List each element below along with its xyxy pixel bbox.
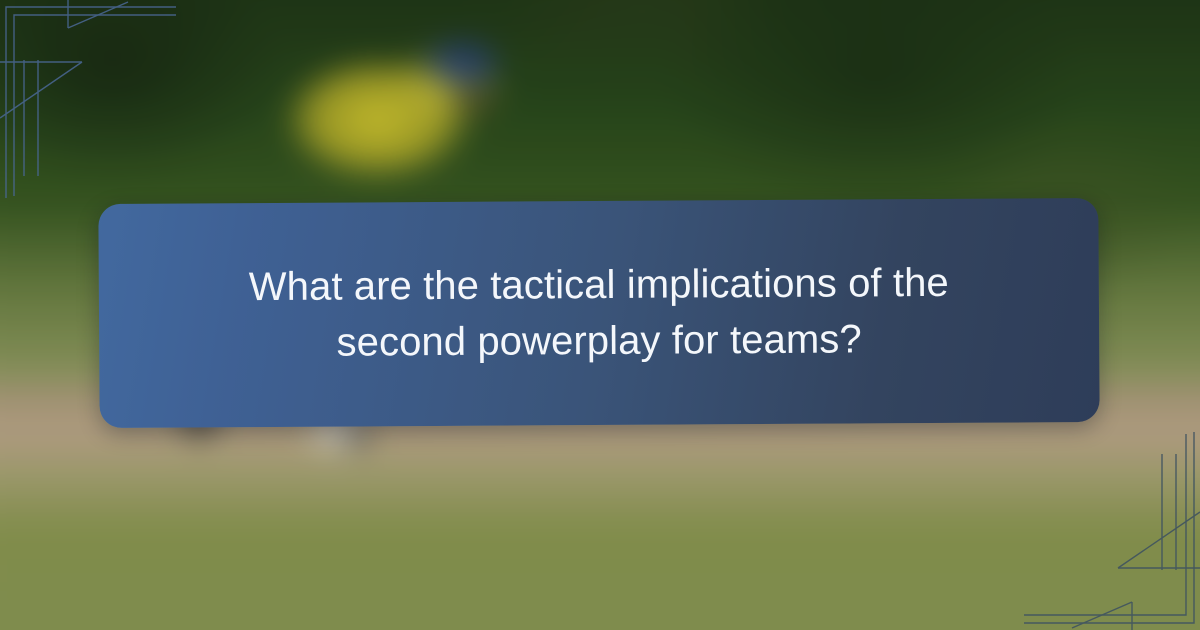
question-line-2: second powerplay for teams? <box>336 311 862 370</box>
question-card-graphic: What are the tactical implications of th… <box>0 0 1200 630</box>
question-line-1: What are the tactical implications of th… <box>249 255 949 315</box>
question-card: What are the tactical implications of th… <box>99 201 1099 425</box>
question-card-text-block: What are the tactical implications of th… <box>98 198 1099 428</box>
